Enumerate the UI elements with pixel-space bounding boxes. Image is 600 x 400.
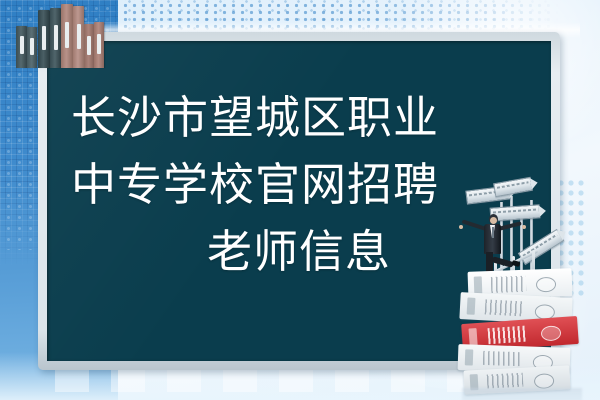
businessman-raised-leg	[491, 256, 514, 268]
binder-tab	[466, 297, 475, 315]
signpost-arrow-text	[497, 181, 529, 189]
binder-label-strip	[20, 36, 24, 54]
binder-item	[27, 27, 37, 68]
binder-stack-reflection	[462, 388, 582, 400]
binder-item	[61, 4, 73, 68]
businessman-left-hand	[459, 225, 463, 229]
binder-item	[16, 26, 27, 68]
businessman-tie	[492, 227, 495, 238]
binder-spine-lines	[487, 326, 527, 344]
binder-spine-lines	[491, 276, 527, 293]
banner-canvas: 长沙市望城区职业 中专学校官网招聘 老师信息	[0, 0, 600, 400]
page-title-line-1: 长沙市望城区职业	[47, 84, 551, 151]
binder-finger-hole	[536, 277, 557, 293]
binder-label-strip	[97, 34, 101, 54]
binder-finger-hole	[540, 326, 561, 342]
binder-item	[94, 22, 104, 68]
binder-item	[84, 24, 94, 68]
binder-label-strip	[42, 26, 46, 50]
binder-item	[38, 10, 50, 68]
binder-stack	[454, 270, 600, 398]
binder-tab	[474, 276, 483, 294]
binder-row	[16, 0, 102, 68]
signpost-arrow-text	[493, 208, 537, 213]
binder-label-strip	[77, 24, 81, 49]
binder-label-strip	[87, 36, 91, 55]
businessman-left-arm	[462, 219, 487, 231]
binder-label-strip	[54, 25, 58, 50]
binder-label-strip	[65, 22, 69, 48]
binder-spine-lines	[487, 373, 524, 388]
binder-item	[73, 6, 84, 68]
binder-finger-hole	[534, 373, 555, 389]
binder-spine-lines	[482, 351, 521, 367]
right-illustration-scene	[440, 170, 600, 400]
binder-item	[50, 8, 61, 68]
binder-label-strip	[30, 38, 34, 55]
businessman-face	[490, 217, 497, 224]
binder-tab	[464, 349, 473, 366]
binder-spine-lines	[484, 299, 523, 316]
businessman-right-hand	[522, 225, 526, 229]
